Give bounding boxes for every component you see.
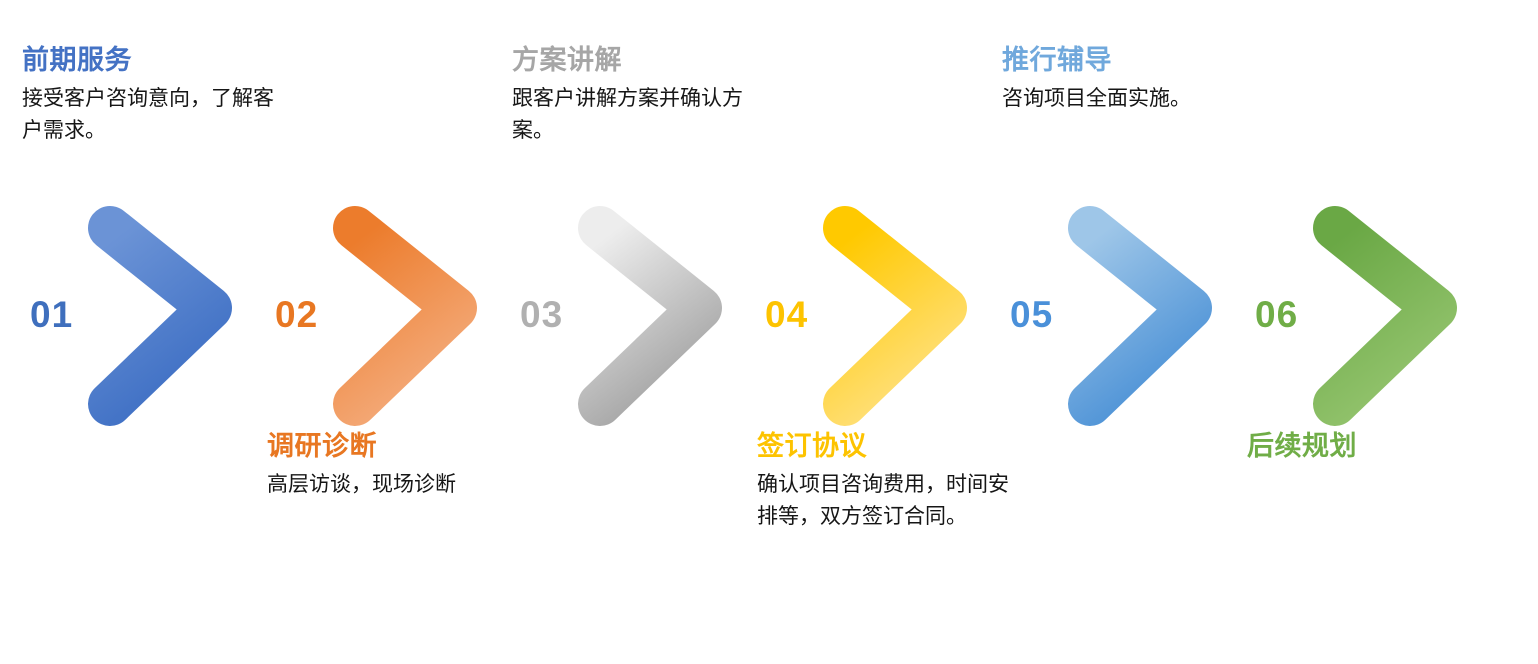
step-number: 05 — [1010, 296, 1053, 333]
step-marker: 05 — [1002, 218, 1247, 414]
step-marker: 03 — [512, 218, 757, 414]
step-text-block: 后续规划 — [1247, 430, 1515, 469]
step-marker: 04 — [757, 218, 1002, 414]
step-description: 咨询项目全面实施。 — [1002, 83, 1270, 115]
chevron-arrow-icon — [88, 218, 228, 414]
chevron-arrow-icon — [333, 218, 473, 414]
step-number: 01 — [30, 296, 73, 333]
process-step-06: 后续规划06 — [1247, 0, 1492, 664]
step-number: 06 — [1255, 296, 1298, 333]
process-step-05: 推行辅导咨询项目全面实施。05 — [1002, 0, 1247, 664]
step-description: 接受客户咨询意向，了解客户需求。 — [22, 83, 290, 147]
step-number: 04 — [765, 296, 808, 333]
step-title: 推行辅导 — [1002, 44, 1270, 77]
step-text-block: 方案讲解跟客户讲解方案并确认方案。 — [512, 44, 780, 147]
chevron-arrow-icon — [578, 218, 718, 414]
step-text-block: 推行辅导咨询项目全面实施。 — [1002, 44, 1270, 115]
step-marker: 02 — [267, 218, 512, 414]
chevron-arrow-icon — [823, 218, 963, 414]
step-marker: 06 — [1247, 218, 1492, 414]
step-number: 02 — [275, 296, 318, 333]
step-title: 方案讲解 — [512, 44, 780, 77]
chevron-arrow-icon — [1313, 218, 1453, 414]
step-description: 跟客户讲解方案并确认方案。 — [512, 83, 780, 147]
step-description: 确认项目咨询费用，时间安排等，双方签订合同。 — [757, 469, 1025, 533]
step-marker: 01 — [22, 218, 267, 414]
process-step-03: 方案讲解跟客户讲解方案并确认方案。03 — [512, 0, 757, 664]
step-description: 高层访谈，现场诊断 — [267, 469, 535, 501]
step-title: 调研诊断 — [267, 430, 535, 463]
step-title: 前期服务 — [22, 44, 290, 77]
step-text-block: 前期服务接受客户咨询意向，了解客户需求。 — [22, 44, 290, 147]
step-number: 03 — [520, 296, 563, 333]
step-title: 签订协议 — [757, 430, 1025, 463]
process-step-01: 前期服务接受客户咨询意向，了解客户需求。01 — [22, 0, 267, 664]
process-step-04: 签订协议确认项目咨询费用，时间安排等，双方签订合同。04 — [757, 0, 1002, 664]
step-title: 后续规划 — [1247, 430, 1515, 463]
step-text-block: 调研诊断高层访谈，现场诊断 — [267, 430, 535, 501]
step-text-block: 签订协议确认项目咨询费用，时间安排等，双方签订合同。 — [757, 430, 1025, 533]
process-step-02: 调研诊断高层访谈，现场诊断02 — [267, 0, 512, 664]
chevron-arrow-icon — [1068, 218, 1208, 414]
process-diagram-canvas: 前期服务接受客户咨询意向，了解客户需求。01调研诊断高层访谈，现场诊断02方案讲… — [0, 0, 1538, 664]
